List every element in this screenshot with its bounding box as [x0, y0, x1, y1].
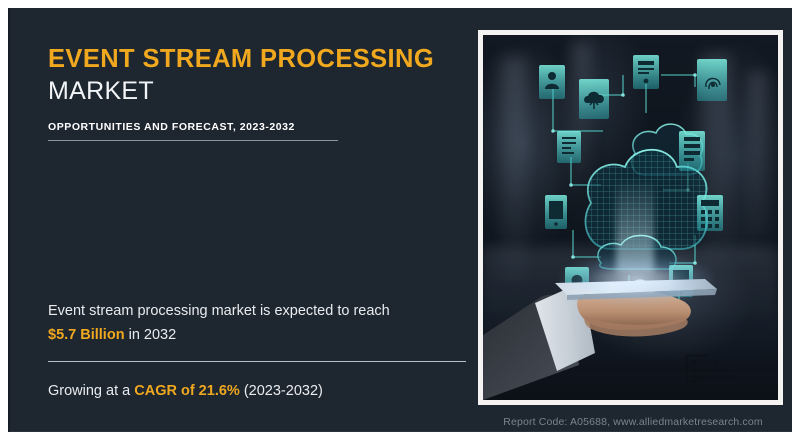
hero-image: Allied Market Research — [483, 35, 778, 400]
market-size-trail: in 2032 — [125, 327, 177, 343]
cagr-trail: (2023-2032) — [240, 383, 323, 399]
market-size-value: $5.7 Billion — [48, 327, 125, 343]
allied-market-research-watermark: Allied Market Research — [684, 353, 766, 384]
title-secondary: MARKET — [48, 76, 468, 107]
svg-text:Allied: Allied — [699, 360, 718, 367]
cagr-line: Growing at a CAGR of 21.6% (2023-2032) — [48, 380, 468, 404]
footer: Report Code: A05688, www.alliedmarketres… — [478, 412, 788, 430]
infographic-root: EVENT STREAM PROCESSING MARKET OPPORTUNI… — [0, 0, 800, 443]
text-column: EVENT STREAM PROCESSING MARKET OPPORTUNI… — [40, 8, 470, 432]
cagr-statement: Growing at a CAGR of 21.6% (2023-2032) — [48, 380, 468, 404]
market-size-line: Event stream processing market is expect… — [48, 300, 468, 348]
report-card: EVENT STREAM PROCESSING MARKET OPPORTUNI… — [8, 8, 792, 432]
subtitle-underline-wrap: OPPORTUNITIES AND FORECAST, 2023-2032 — [48, 121, 338, 141]
cagr-lead: Growing at a — [48, 383, 134, 399]
section-divider — [48, 361, 466, 362]
market-size-statement: Event stream processing market is expect… — [48, 300, 468, 348]
subtitle-kicker: OPPORTUNITIES AND FORECAST, 2023-2032 — [48, 121, 338, 133]
report-code-text: Report Code: A05688, www.alliedmarketres… — [503, 416, 762, 428]
hero-image-frame: Allied Market Research — [478, 30, 783, 405]
svg-text:Market: Market — [703, 367, 726, 374]
market-size-lead: Event stream processing market is expect… — [48, 303, 390, 319]
hand-holding-tablet — [483, 35, 778, 400]
title-primary: EVENT STREAM PROCESSING — [48, 46, 468, 74]
svg-text:Research: Research — [707, 374, 739, 381]
tablet-screen-glow — [560, 254, 713, 305]
cagr-value: CAGR of 21.6% — [134, 383, 240, 399]
page-title: EVENT STREAM PROCESSING MARKET — [48, 46, 468, 106]
